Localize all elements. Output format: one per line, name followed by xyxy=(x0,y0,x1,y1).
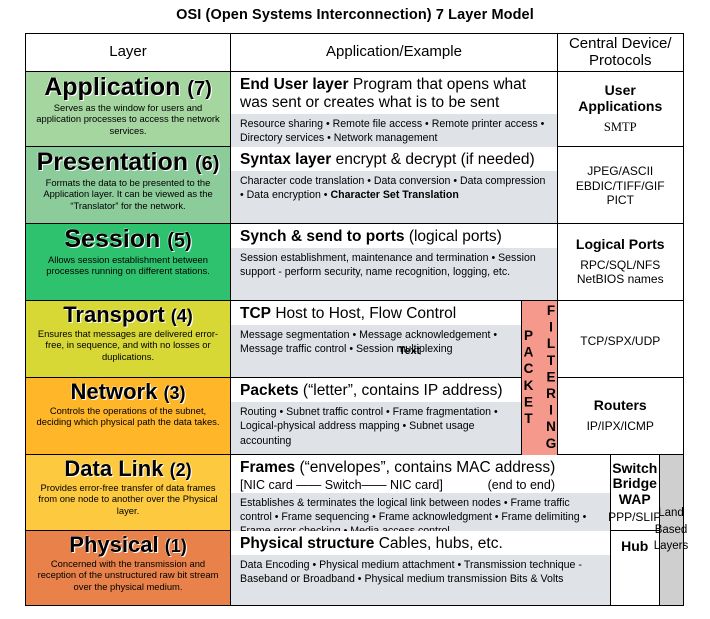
detail-transport-text: Message segmentation • Message acknowled… xyxy=(240,329,497,355)
head-light-data-link: (“envelopes”, contains MAC address) xyxy=(299,459,555,476)
application-example-cell-presentation: Syntax layer encrypt & decrypt (if neede… xyxy=(231,147,558,224)
layer-cell-data-link: Data Link (2) Provides error-free transf… xyxy=(26,455,231,531)
layer-description-presentation: Formats the data to be presented to the … xyxy=(30,177,226,211)
application-example-cell-data-link: Frames (“envelopes”, contains MAC addres… xyxy=(231,455,611,531)
layer-cell-session: Session (5) Allows session establishment… xyxy=(26,224,231,301)
device-sub-application: SMTP xyxy=(604,120,637,135)
header-application-label: Application/Example xyxy=(326,44,462,61)
layer-description-physical: Concerned with the transmission and rece… xyxy=(30,558,226,592)
head-bold-presentation: Syntax layer xyxy=(240,151,331,168)
device-line1-presentation: JPEG/ASCII xyxy=(587,164,653,178)
device-sub2-session: NetBIOS names xyxy=(577,272,664,286)
head-light-network: (“letter”, contains IP address) xyxy=(303,382,503,399)
application-example-cell-session: Synch & send to ports (logical ports) Se… xyxy=(231,224,558,301)
detail-presentation: Character code translation • Data conver… xyxy=(231,171,557,223)
layer-name-session: Session xyxy=(64,225,160,253)
sub-line-data-link: [NIC card —— Switch—— NIC card] xyxy=(240,478,443,493)
application-example-cell-transport: TCP Host to Host, Flow Control Message s… xyxy=(231,301,521,378)
layer-description-data-link: Provides error-free transfer of data fra… xyxy=(30,482,226,516)
header-application-example: Application/Example xyxy=(231,34,558,72)
device-line1-session: Logical Ports xyxy=(576,237,665,253)
head-light-presentation: encrypt & decrypt (if needed) xyxy=(336,151,535,168)
device-line2-data-link: Bridge xyxy=(613,475,657,491)
head-bold-session: Synch & send to ports xyxy=(240,228,405,245)
head-bold-network: Packets xyxy=(240,382,299,399)
detail-presentation-bold: Character Set Translation xyxy=(330,189,458,201)
head-bold-transport: TCP xyxy=(240,305,271,322)
layer-description-network: Controls the operations of the subnet, d… xyxy=(30,405,226,428)
device-line2-presentation: EBDIC/TIFF/GIF xyxy=(576,179,665,193)
application-example-cell-physical: Physical structure Cables, hubs, etc. Da… xyxy=(231,531,611,605)
layer-name-physical: Physical xyxy=(69,532,158,557)
layer-cell-transport: Transport (4) Ensures that messages are … xyxy=(26,301,231,378)
central-device-cell-application: User Applications SMTP xyxy=(558,72,683,147)
sub-line-right-data-link: (end to end) xyxy=(488,478,555,493)
layer-name-transport: Transport xyxy=(63,302,164,327)
detail-network: Routing • Subnet traffic control • Frame… xyxy=(231,402,521,454)
detail-transport: Message segmentation • Message acknowled… xyxy=(231,325,521,377)
device-line1-network: Routers xyxy=(594,398,647,414)
central-device-cell-transport: TCP/SPX/UDP xyxy=(558,301,683,378)
layer-number-data-link: (2) xyxy=(170,460,192,480)
land-label-line1: Land xyxy=(658,507,684,519)
detail-application: Resource sharing • Remote file access • … xyxy=(231,114,557,148)
layer-cell-network: Network (3) Controls the operations of t… xyxy=(26,378,231,455)
osi-model-table: Layer Application/Example Central Device… xyxy=(25,33,684,606)
head-bold-physical: Physical structure xyxy=(240,535,374,552)
land-label-line3: Layers xyxy=(654,540,689,552)
central-device-cell-data-link: Switch Bridge WAP PPP/SLIP xyxy=(611,455,659,531)
layer-description-application: Serves as the window for users and appli… xyxy=(30,102,226,136)
application-example-cell-application: End User layer Program that opens what w… xyxy=(231,72,558,147)
head-bold-application: End User layer xyxy=(240,76,349,93)
device-sub1-transport: TCP/SPX/UDP xyxy=(580,334,660,348)
detail-physical: Data Encoding • Physical medium attachme… xyxy=(231,555,610,605)
layer-number-application: (7) xyxy=(187,78,211,100)
packet-filtering-word-filtering: FILTERING xyxy=(544,303,558,452)
header-central-line1: Central Device/ xyxy=(569,35,672,52)
layer-name-data-link: Data Link xyxy=(64,456,163,481)
central-device-cell-presentation: JPEG/ASCII EBDIC/TIFF/GIF PICT xyxy=(558,147,683,224)
central-device-cell-network: Routers IP/IPX/ICMP xyxy=(558,378,683,455)
central-device-cell-physical: Hub xyxy=(611,531,659,605)
device-line1-physical: Hub xyxy=(621,539,648,555)
layer-cell-presentation: Presentation (6) Formats the data to be … xyxy=(26,147,231,224)
header-central-device: Central Device/ Protocols xyxy=(558,34,683,72)
detail-transport-overlay-artifact: Text xyxy=(399,344,420,358)
detail-session: Session establishment, maintenance and t… xyxy=(231,248,557,300)
layer-number-transport: (4) xyxy=(171,306,193,326)
layer-name-network: Network xyxy=(71,379,158,404)
layer-number-network: (3) xyxy=(163,383,185,403)
layer-number-presentation: (6) xyxy=(195,153,219,175)
page-title: OSI (Open Systems Interconnection) 7 Lay… xyxy=(0,7,710,23)
layer-description-transport: Ensures that messages are delivered erro… xyxy=(30,328,226,362)
head-light-physical: Cables, hubs, etc. xyxy=(379,535,503,552)
head-light-session: (logical ports) xyxy=(409,228,502,245)
central-device-cell-session: Logical Ports RPC/SQL/NFS NetBIOS names xyxy=(558,224,683,301)
device-line3-presentation: PICT xyxy=(607,193,634,207)
device-line2-application: Applications xyxy=(578,98,662,114)
layer-description-session: Allows session establishment between pro… xyxy=(30,254,226,277)
device-sub1-session: RPC/SQL/NFS xyxy=(580,258,660,272)
device-line1-application: User xyxy=(605,82,636,98)
application-example-cell-network: Packets (“letter”, contains IP address) … xyxy=(231,378,521,455)
header-layer: Layer xyxy=(26,34,231,72)
layer-number-session: (5) xyxy=(167,230,191,252)
device-line1-data-link: Switch xyxy=(612,460,657,476)
layer-cell-application: Application (7) Serves as the window for… xyxy=(26,72,231,147)
device-sub1-network: IP/IPX/ICMP xyxy=(587,419,654,433)
head-light-transport: Host to Host, Flow Control xyxy=(275,305,456,322)
packet-filtering-word-packet: PACKET xyxy=(522,328,536,428)
layer-name-application: Application xyxy=(44,73,180,101)
layer-cell-physical: Physical (1) Concerned with the transmis… xyxy=(26,531,231,605)
header-central-line2: Protocols xyxy=(589,52,652,69)
land-label-line2: Based xyxy=(655,524,688,536)
device-line3-data-link: WAP xyxy=(619,491,651,507)
header-layer-label: Layer xyxy=(109,44,147,61)
layer-number-physical: (1) xyxy=(165,536,187,556)
packet-filtering-band: PACKET FILTERING xyxy=(521,301,558,455)
layer-name-presentation: Presentation xyxy=(37,148,188,176)
land-based-layers-band: Land Based Layers xyxy=(659,455,683,605)
head-bold-data-link: Frames xyxy=(240,459,295,476)
